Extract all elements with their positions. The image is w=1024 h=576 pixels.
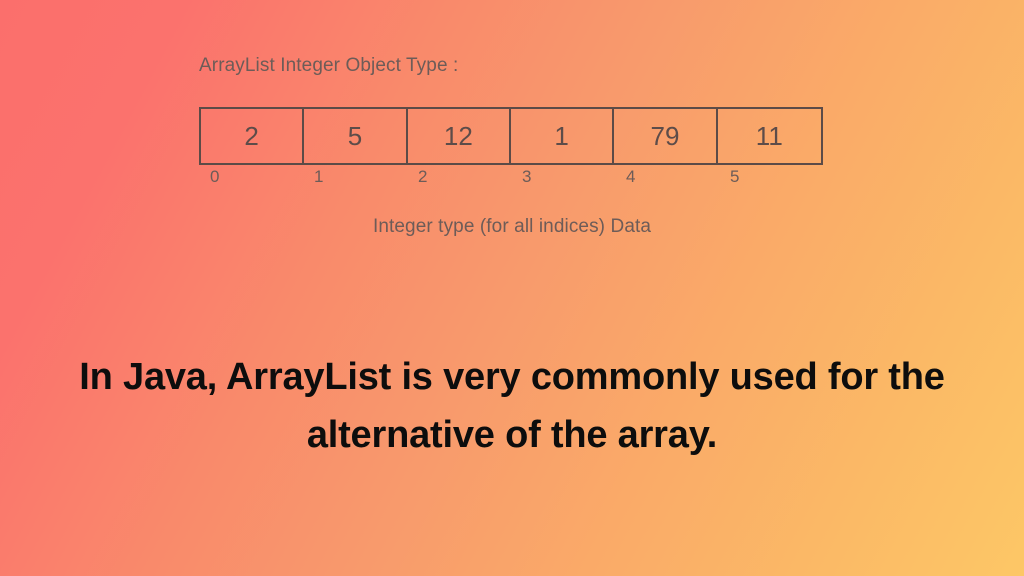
diagram-title: ArrayList Integer Object Type : <box>199 55 458 77</box>
array-cell: 5 <box>304 109 407 163</box>
array-cell-value: 11 <box>756 123 783 149</box>
array-cell: 2 <box>201 109 304 163</box>
arraylist-index-row: 0 1 2 3 4 5 <box>199 168 823 187</box>
headline-line: alternative of the array. <box>18 406 1006 464</box>
array-cell: 79 <box>614 109 717 163</box>
array-cell: 11 <box>718 109 821 163</box>
index-label: 5 <box>730 167 739 186</box>
diagram-caption: Integer type (for all indices) Data <box>0 216 1024 238</box>
array-cell-value: 12 <box>444 123 473 149</box>
index-label: 1 <box>314 167 323 186</box>
array-cell-value: 79 <box>651 123 680 149</box>
index-slot: 0 <box>199 168 303 187</box>
array-cell: 1 <box>511 109 614 163</box>
index-slot: 4 <box>615 168 719 187</box>
index-slot: 3 <box>511 168 615 187</box>
index-label: 0 <box>210 167 219 186</box>
array-cell-value: 1 <box>554 123 568 149</box>
headline-line: In Java, ArrayList is very commonly used… <box>18 348 1006 406</box>
slide-canvas: ArrayList Integer Object Type : 2 5 12 1… <box>0 0 1024 576</box>
index-slot: 5 <box>719 168 823 187</box>
index-slot: 1 <box>303 168 407 187</box>
array-cell-value: 5 <box>348 123 362 149</box>
index-label: 2 <box>418 167 427 186</box>
array-cell: 12 <box>408 109 511 163</box>
arraylist-cells-row: 2 5 12 1 79 11 <box>199 107 823 165</box>
index-label: 4 <box>626 167 635 186</box>
index-label: 3 <box>522 167 531 186</box>
index-slot: 2 <box>407 168 511 187</box>
array-cell-value: 2 <box>244 123 258 149</box>
headline-text: In Java, ArrayList is very commonly used… <box>0 348 1024 464</box>
